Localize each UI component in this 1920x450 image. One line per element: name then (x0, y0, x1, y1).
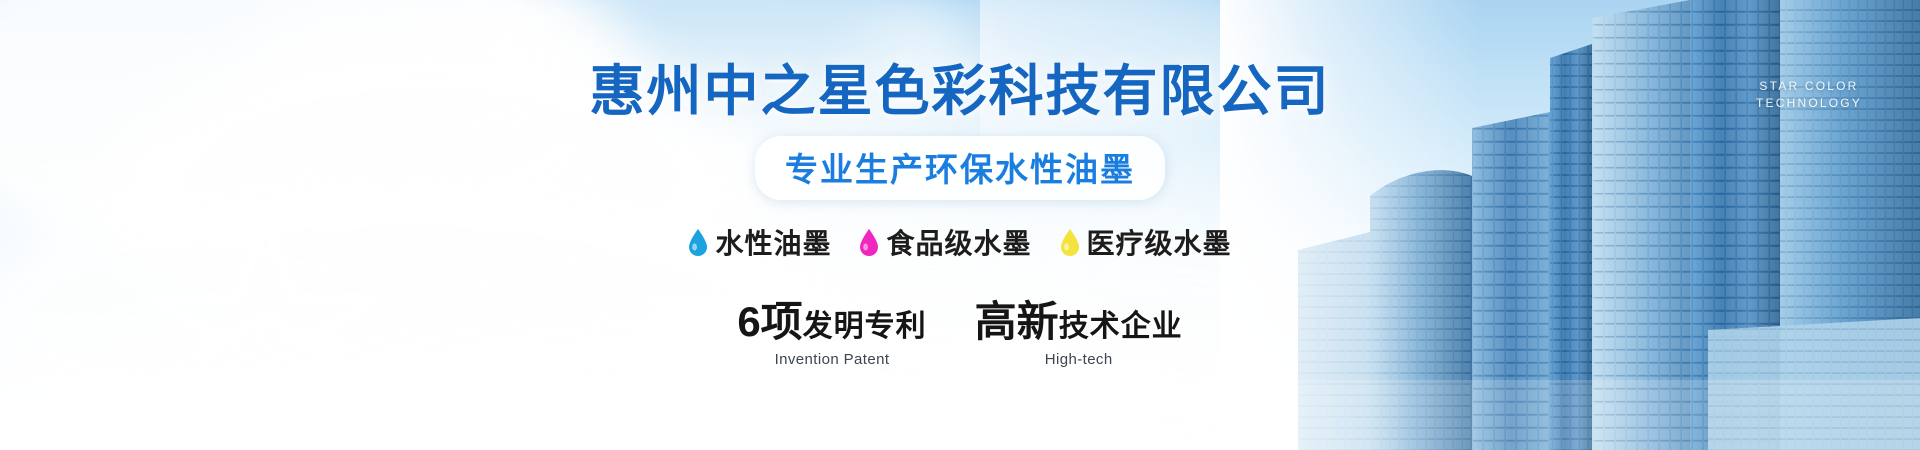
badge-subhead: 技术企业 (1059, 301, 1183, 345)
tagline-text: 专业生产环保水性油墨 (785, 143, 1135, 191)
feature-item: 水性油墨 (688, 222, 831, 262)
badge-list: 6项 发明专利 Invention Patent 高新 技术企业 High-te… (737, 288, 1182, 368)
badge-headline: 高新 (975, 288, 1059, 349)
badge-invention-patent: 6项 发明专利 Invention Patent (737, 288, 926, 368)
feature-item: 医疗级水墨 (1060, 222, 1232, 262)
feature-item: 食品级水墨 (859, 222, 1031, 262)
feature-label: 医疗级水墨 (1087, 222, 1232, 262)
feature-label: 食品级水墨 (886, 222, 1031, 262)
tagline-pill: 专业生产环保水性油墨 (755, 136, 1165, 200)
badge-caption: Invention Patent (737, 351, 926, 368)
badge-main-line: 6项 发明专利 (737, 288, 926, 349)
badge-high-tech: 高新 技术企业 High-tech (975, 288, 1183, 368)
promo-banner: Star Color (0, 0, 1920, 450)
banner-content: 惠州中之星色彩科技有限公司 专业生产环保水性油墨 水性油墨 食品级水墨 (0, 0, 1920, 450)
badge-caption: High-tech (975, 351, 1183, 368)
badge-headline: 6项 (737, 288, 802, 349)
badge-subhead: 发明专利 (803, 301, 927, 345)
water-drop-icon (688, 228, 708, 256)
water-drop-icon (1060, 228, 1080, 256)
feature-label: 水性油墨 (715, 222, 831, 262)
badge-main-line: 高新 技术企业 (975, 288, 1183, 349)
feature-list: 水性油墨 食品级水墨 医疗级水墨 (688, 222, 1231, 262)
company-title: 惠州中之星色彩科技有限公司 (589, 62, 1330, 120)
water-drop-icon (859, 228, 879, 256)
